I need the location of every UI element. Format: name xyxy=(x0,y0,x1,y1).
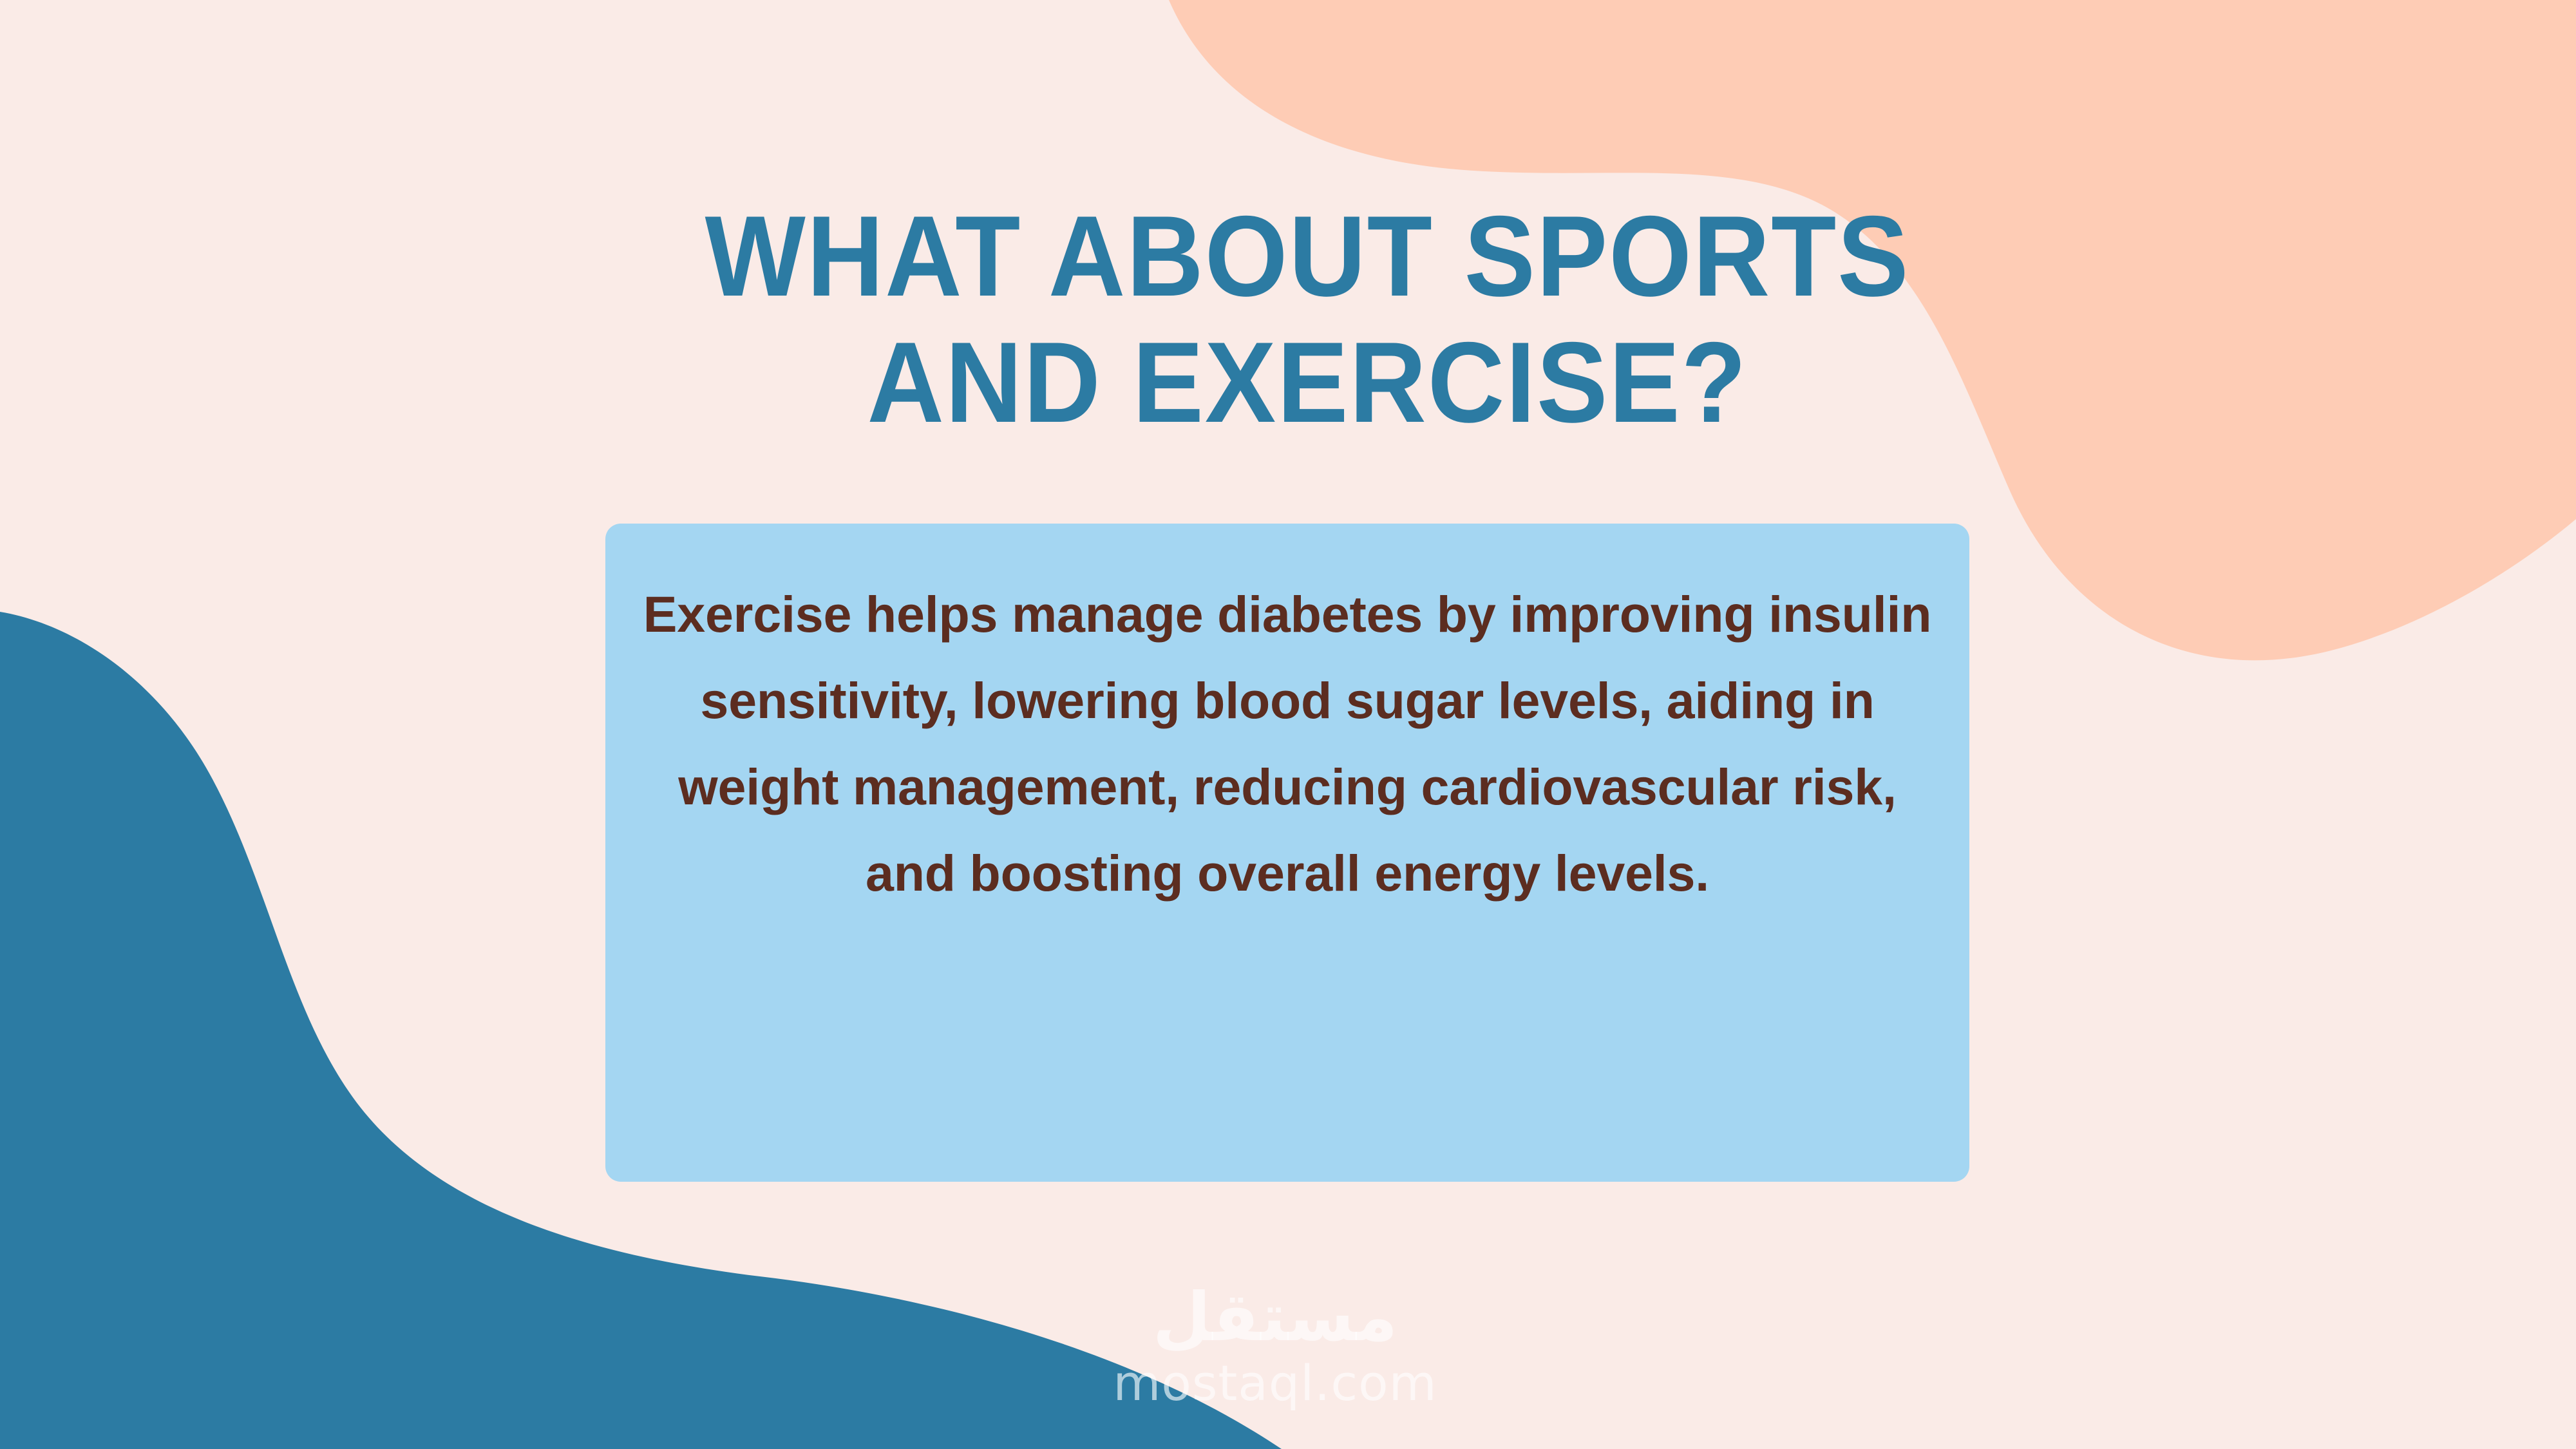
body-text-card: Exercise helps manage diabetes by improv… xyxy=(605,524,1969,1182)
poster-canvas: WHAT ABOUT SPORTS AND EXERCISE? Exercise… xyxy=(0,0,2576,1449)
body-paragraph: Exercise helps manage diabetes by improv… xyxy=(631,571,1944,916)
title-line-1: WHAT ABOUT SPORTS xyxy=(91,193,2523,319)
page-title: WHAT ABOUT SPORTS AND EXERCISE? xyxy=(0,193,2576,446)
title-line-2: AND EXERCISE? xyxy=(91,319,2523,446)
